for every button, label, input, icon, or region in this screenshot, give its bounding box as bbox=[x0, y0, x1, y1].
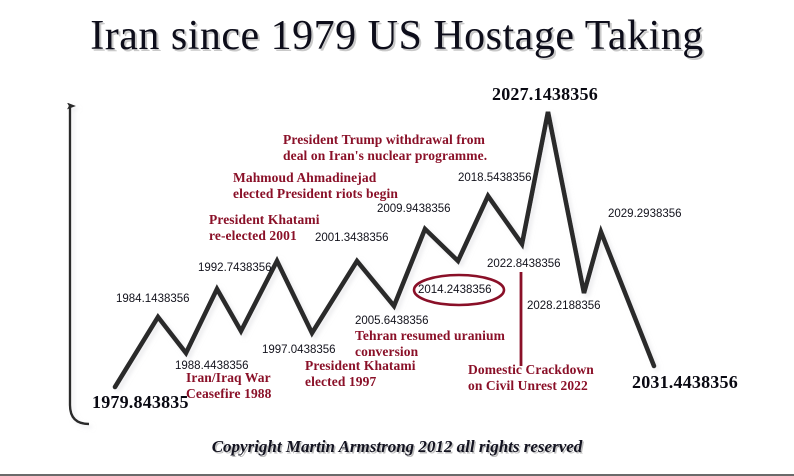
annotation-khatami-elected-line2: elected 1997 bbox=[305, 374, 416, 390]
annotation-iran-iraq-war-line2: Ceasefire 1988 bbox=[186, 386, 272, 402]
point-label-2018: 2018.5438356 bbox=[458, 172, 532, 186]
point-label-1992: 1992.7438356 bbox=[198, 262, 272, 276]
point-label-2022: 2022.8438356 bbox=[487, 258, 561, 272]
annotation-trump-withdrawal-line1: President Trump withdrawal from bbox=[283, 132, 487, 148]
point-label-2028: 2028.2188356 bbox=[527, 300, 601, 314]
annotation-khatami-reelected-line2: re-elected 2001 bbox=[209, 228, 320, 244]
chart-canvas: Iran since 1979 US Hostage Taking bbox=[0, 0, 794, 476]
annotation-khatami-elected: President Khatami elected 1997 bbox=[305, 358, 416, 390]
page-title: Iran since 1979 US Hostage Taking bbox=[0, 12, 794, 60]
point-label-2009: 2009.9438356 bbox=[377, 203, 451, 217]
point-label-1979: 1979.843835 bbox=[92, 392, 189, 413]
point-label-2027: 2027.1438356 bbox=[492, 84, 598, 105]
annotation-iran-iraq-war: Iran/Iraq War Ceasefire 1988 bbox=[186, 370, 272, 402]
annotation-domestic-crackdown: Domestic Crackdown on Civil Unrest 2022 bbox=[468, 362, 594, 394]
point-label-1984: 1984.1438356 bbox=[116, 293, 190, 307]
annotation-ahmadinejad: Mahmoud Ahmadinejad elected President ri… bbox=[233, 170, 398, 202]
point-label-2031: 2031.4438356 bbox=[632, 372, 738, 393]
annotation-domestic-crackdown-line1: Domestic Crackdown bbox=[468, 362, 594, 378]
point-label-1997: 1997.0438356 bbox=[262, 344, 336, 358]
annotation-ahmadinejad-line2: elected President riots begin bbox=[233, 186, 398, 202]
point-label-2029: 2029.2938356 bbox=[608, 208, 682, 222]
annotation-ahmadinejad-line1: Mahmoud Ahmadinejad bbox=[233, 170, 398, 186]
annotation-tehran-uranium-line2: conversion bbox=[355, 344, 505, 360]
point-label-2001: 2001.3438356 bbox=[315, 232, 389, 246]
point-label-2005: 2005.6438356 bbox=[355, 315, 429, 329]
annotation-domestic-crackdown-line2: on Civil Unrest 2022 bbox=[468, 378, 594, 394]
vertical-axis-arrow bbox=[70, 106, 89, 424]
annotation-khatami-elected-line1: President Khatami bbox=[305, 358, 416, 374]
annotation-khatami-reelected: President Khatami re-elected 2001 bbox=[209, 212, 320, 244]
annotation-khatami-reelected-line1: President Khatami bbox=[209, 212, 320, 228]
copyright-notice: Copyright Martin Armstrong 2012 all righ… bbox=[0, 437, 794, 457]
annotation-iran-iraq-war-line1: Iran/Iraq War bbox=[186, 370, 272, 386]
point-label-2014: 2014.2438356 bbox=[418, 284, 492, 298]
annotation-trump-withdrawal: President Trump withdrawal from deal on … bbox=[283, 132, 487, 164]
annotation-trump-withdrawal-line2: deal on Iran's nuclear programme. bbox=[283, 148, 487, 164]
annotation-tehran-uranium: Tehran resumed uranium conversion bbox=[355, 328, 505, 360]
annotation-tehran-uranium-line1: Tehran resumed uranium bbox=[355, 328, 505, 344]
